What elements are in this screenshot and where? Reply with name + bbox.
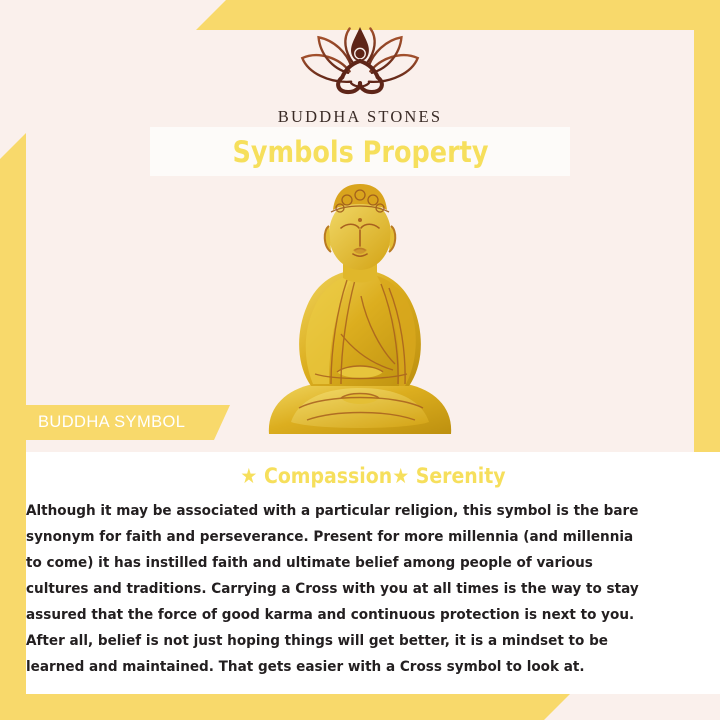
poster-canvas: BUDDHA STONES Symbols Property bbox=[0, 0, 720, 720]
lotus-meditation-icon bbox=[285, 24, 435, 98]
brand-name: BUDDHA STONES bbox=[0, 107, 720, 127]
page-title: Symbols Property bbox=[232, 135, 488, 169]
content-paragraph: Although it may be associated with a par… bbox=[26, 488, 653, 680]
status-badge: BUDDHA SYMBOL bbox=[18, 405, 230, 440]
hero-image bbox=[0, 182, 720, 442]
status-badge-label: BUDDHA SYMBOL bbox=[38, 413, 185, 432]
golden-buddha-statue-icon bbox=[255, 184, 465, 442]
brand-header: BUDDHA STONES bbox=[0, 24, 720, 127]
frame-band-bottom bbox=[0, 694, 570, 720]
content-subheading: ★ Compassion★ Serenity bbox=[61, 452, 686, 488]
title-banner: Symbols Property bbox=[150, 127, 570, 176]
content-panel: ★ Compassion★ Serenity Although it may b… bbox=[26, 452, 720, 694]
